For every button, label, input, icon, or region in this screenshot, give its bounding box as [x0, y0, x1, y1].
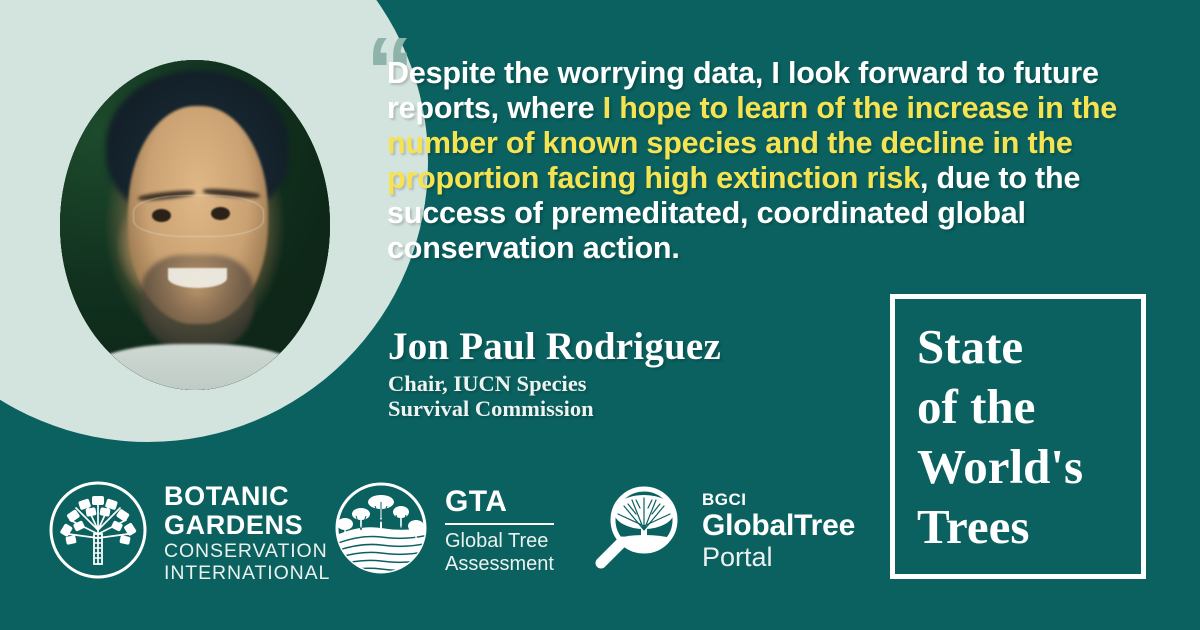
circular-tree-icon	[46, 478, 150, 587]
logo-portal-line-2: Portal	[702, 542, 855, 572]
magnifying-glass-tree-icon	[588, 478, 688, 583]
logo-bgci-text: BOTANIC GARDENS CONSERVATION INTERNATION…	[164, 482, 330, 584]
report-title-line-1: State	[917, 317, 1131, 377]
logo-bgci-line-4: INTERNATIONAL	[164, 562, 330, 584]
attribution-role-line-1: Chair, IUCN Species	[388, 372, 908, 397]
logo-gta-line-1: Global Tree	[445, 530, 554, 553]
attribution-role: Chair, IUCN Species Survival Commission	[388, 372, 908, 421]
logo-gta: GTA Global Tree Assessment	[331, 478, 554, 583]
logo-portal-brand: BGCI	[702, 490, 855, 509]
portrait-photo	[60, 60, 330, 390]
report-title-line-2: of the	[917, 377, 1131, 437]
report-title: State of the World's Trees	[917, 317, 1131, 557]
report-title-box: State of the World's Trees	[890, 294, 1146, 579]
logo-portal-line-1: GlobalTree	[702, 509, 855, 542]
poster-canvas: “ Despite the worrying data, I look forw…	[0, 0, 1200, 630]
logo-gta-line-2: Assessment	[445, 553, 554, 576]
attribution-role-line-2: Survival Commission	[388, 397, 908, 422]
attribution: Jon Paul Rodriguez Chair, IUCN Species S…	[388, 325, 908, 421]
logo-gta-divider	[445, 523, 554, 525]
logo-portal-text: BGCI GlobalTree Portal	[702, 490, 855, 572]
logo-bgci-line-1: BOTANIC	[164, 482, 330, 511]
logo-globaltree-portal: BGCI GlobalTree Portal	[588, 478, 855, 583]
logo-row: BOTANIC GARDENS CONSERVATION INTERNATION…	[0, 470, 880, 595]
circular-trees-hillside-icon	[331, 478, 431, 583]
portrait-mouth	[168, 268, 227, 288]
quote-text: Despite the worrying data, I look forwar…	[387, 56, 1147, 266]
logo-gta-text: GTA Global Tree Assessment	[445, 486, 554, 576]
logo-gta-acronym: GTA	[445, 486, 554, 518]
portrait-glasses	[133, 195, 265, 237]
logo-bgci-line-2: GARDENS	[164, 511, 330, 540]
report-title-line-3: World's	[917, 437, 1131, 497]
attribution-name: Jon Paul Rodriguez	[388, 325, 908, 369]
logo-bgci-line-3: CONSERVATION	[164, 540, 330, 562]
logo-bgci: BOTANIC GARDENS CONSERVATION INTERNATION…	[46, 478, 330, 587]
report-title-line-4: Trees	[917, 497, 1131, 557]
